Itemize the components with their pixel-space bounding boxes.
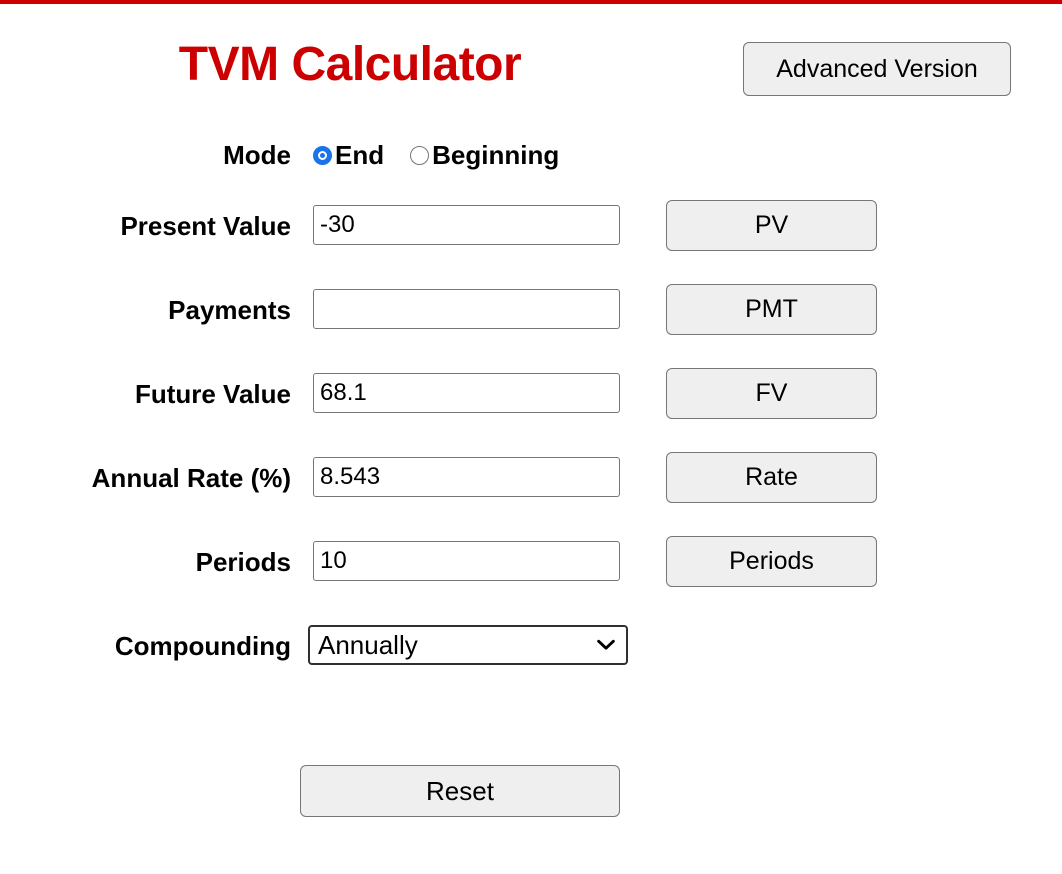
annual-rate-row: Annual Rate (%) Rate: [0, 457, 1062, 515]
payments-row: Payments PMT: [0, 289, 1062, 347]
mode-option-end-label: End: [335, 140, 384, 170]
radio-end-icon[interactable]: [313, 146, 332, 165]
compounding-label: Compounding: [0, 625, 291, 667]
present-value-row: Present Value PV: [0, 205, 1062, 263]
future-value-row: Future Value FV: [0, 373, 1062, 431]
payments-input[interactable]: [313, 289, 620, 329]
periods-row: Periods Periods: [0, 541, 1062, 599]
mode-option-beginning-label: Beginning: [432, 140, 559, 170]
payments-label: Payments: [0, 289, 291, 331]
periods-label: Periods: [0, 541, 291, 583]
mode-option-beginning[interactable]: Beginning: [410, 140, 559, 170]
advanced-version-button[interactable]: Advanced Version: [743, 42, 1011, 96]
annual-rate-input[interactable]: [313, 457, 620, 497]
compute-pv-button[interactable]: PV: [666, 200, 877, 251]
future-value-label: Future Value: [0, 373, 291, 415]
future-value-input[interactable]: [313, 373, 620, 413]
compute-fv-button[interactable]: FV: [666, 368, 877, 419]
reset-button[interactable]: Reset: [300, 765, 620, 817]
compounding-row: Compounding Annually: [0, 625, 1062, 683]
mode-row: Mode End Beginning: [0, 134, 1062, 192]
compute-pmt-button[interactable]: PMT: [666, 284, 877, 335]
annual-rate-label: Annual Rate (%): [0, 457, 291, 499]
present-value-label: Present Value: [0, 205, 291, 247]
chevron-down-icon: [597, 639, 615, 651]
mode-label: Mode: [0, 134, 291, 176]
present-value-input[interactable]: [313, 205, 620, 245]
compounding-selected-value: Annually: [318, 630, 418, 660]
tvm-calculator-page: TVM Calculator Advanced Version Mode End…: [0, 0, 1062, 874]
page-title: TVM Calculator: [0, 36, 700, 94]
compute-periods-button[interactable]: Periods: [666, 536, 877, 587]
mode-radio-group: End Beginning: [313, 134, 559, 176]
periods-input[interactable]: [313, 541, 620, 581]
compounding-select[interactable]: Annually: [308, 625, 628, 665]
radio-beginning-icon[interactable]: [410, 146, 429, 165]
page-header: TVM Calculator Advanced Version: [0, 4, 1062, 114]
mode-option-end[interactable]: End: [313, 140, 384, 170]
compute-rate-button[interactable]: Rate: [666, 452, 877, 503]
